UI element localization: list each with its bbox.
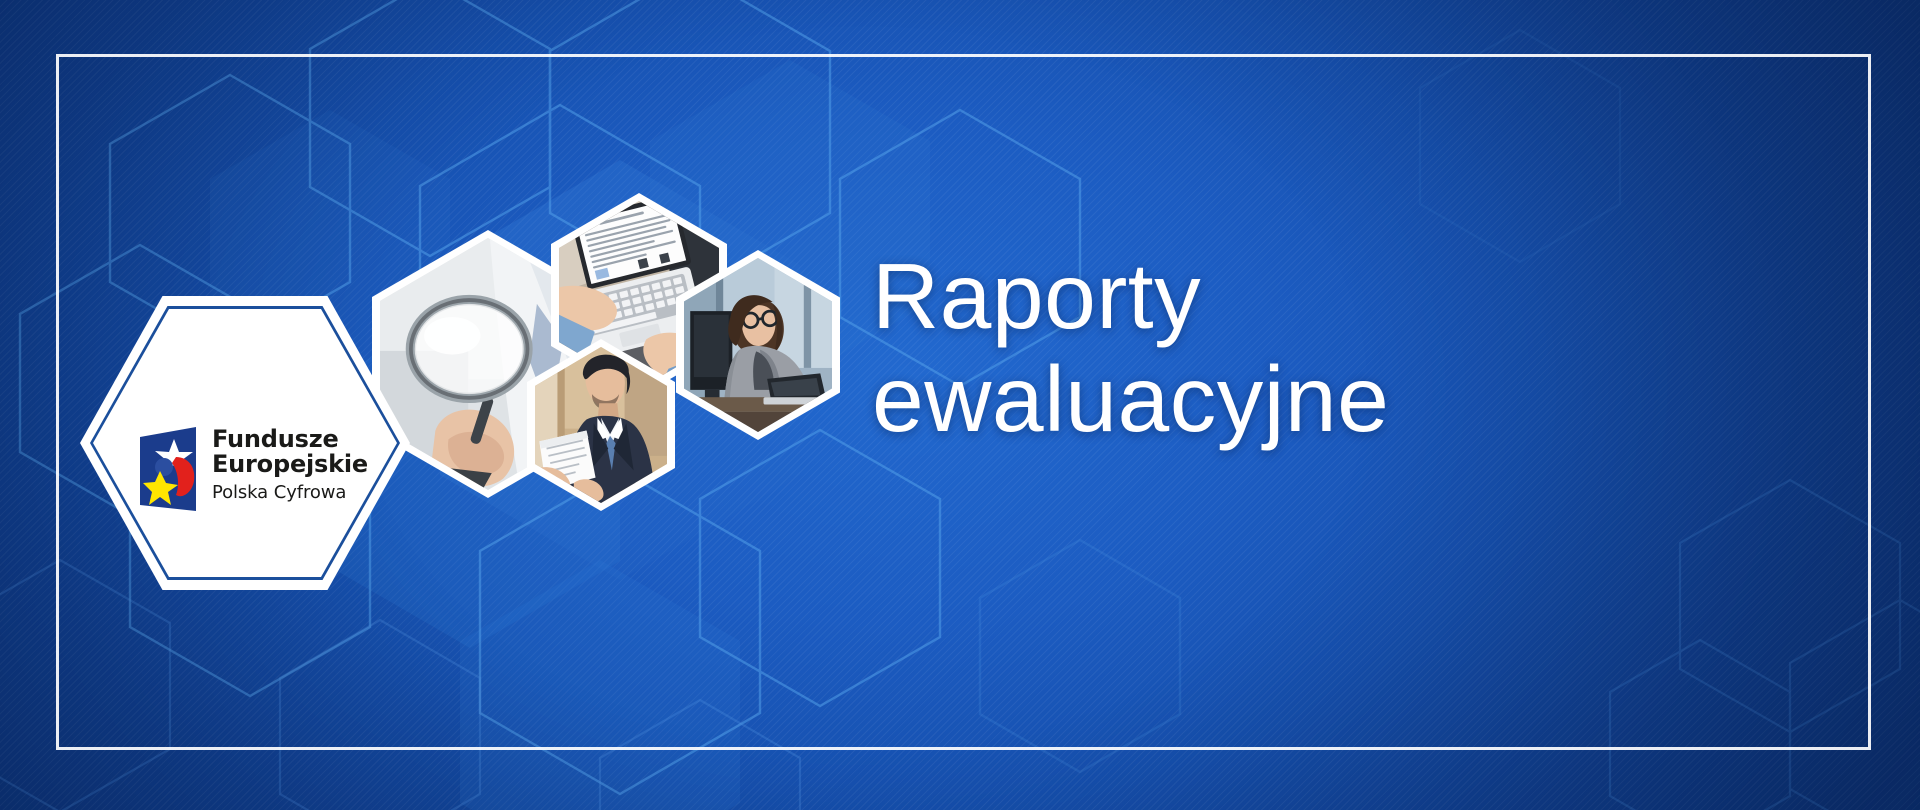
fundusze-europejskie-logo: Fundusze Europejskie Polska Cyfrowa: [138, 427, 368, 511]
logo-line-europejskie: Europejskie: [212, 452, 368, 477]
logo-text-block: Fundusze Europejskie Polska Cyfrowa: [212, 427, 368, 505]
headline-line-2: ewaluacyjne: [872, 352, 1492, 447]
eu-funds-emblem-icon: [138, 427, 200, 511]
logo-line-fundusze: Fundusze: [212, 427, 368, 452]
logo-line-polska-cyfrowa: Polska Cyfrowa: [212, 481, 368, 505]
photo-hexagon-woman-desk: [676, 250, 840, 440]
headline-line-1: Raporty: [872, 249, 1492, 344]
photo-hexagon-businessman: [527, 339, 675, 511]
banner-headline: Raporty ewaluacyjne: [872, 249, 1492, 447]
banner-root: Fundusze Europejskie Polska Cyfrowa Rapo…: [0, 0, 1920, 810]
